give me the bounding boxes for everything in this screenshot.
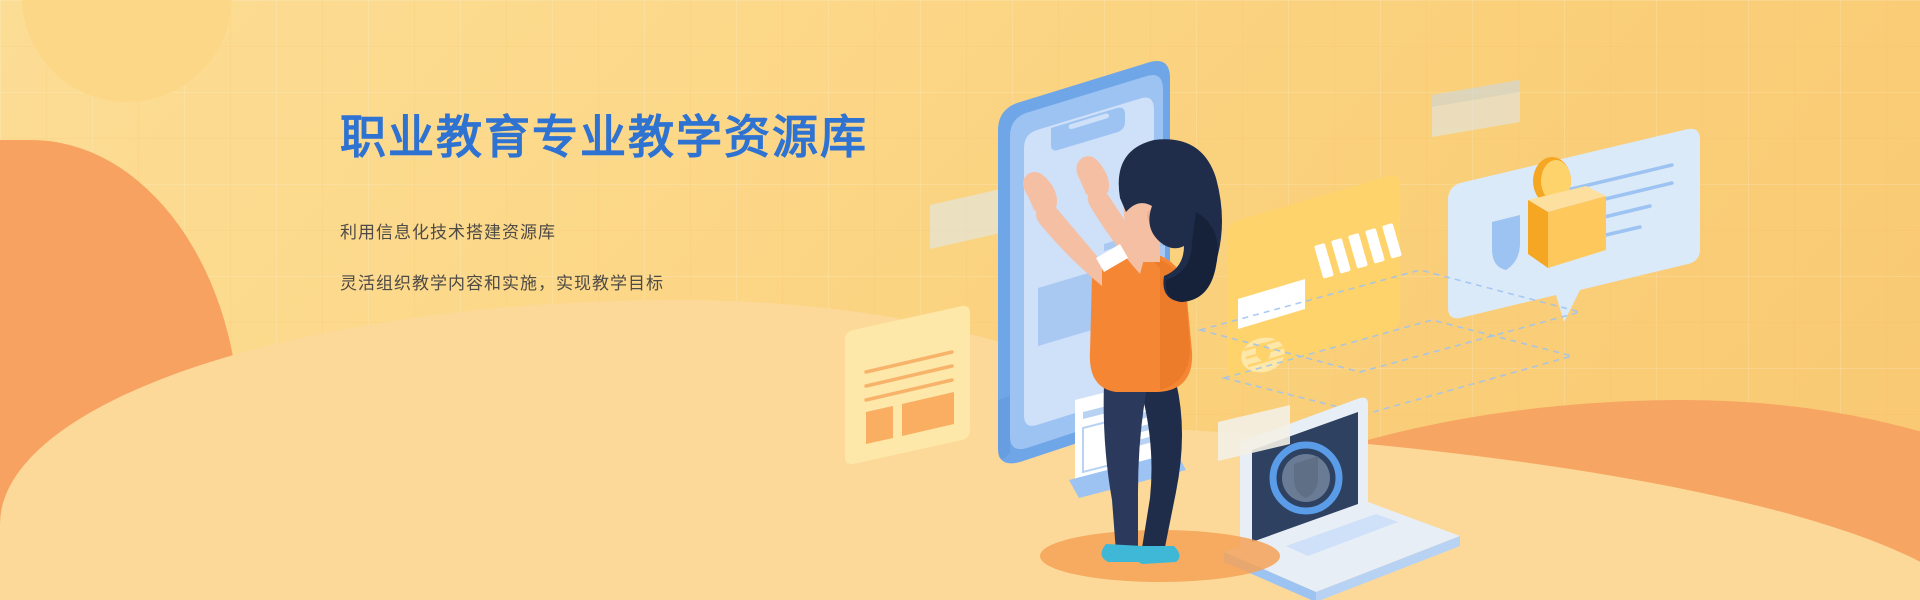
shield-icon-laptop	[1273, 445, 1339, 511]
floating-panel-right-top	[1432, 80, 1520, 137]
credit-card	[1227, 175, 1402, 377]
hero-illustration	[820, 0, 1920, 600]
document-card	[845, 306, 970, 464]
floating-panel-left	[930, 188, 1005, 249]
hero-banner: 职业教育专业教学资源库 利用信息化技术搭建资源库 灵活组织教学内容和实施，实现教…	[0, 0, 1920, 600]
decorative-circle-top-left	[22, 0, 232, 102]
